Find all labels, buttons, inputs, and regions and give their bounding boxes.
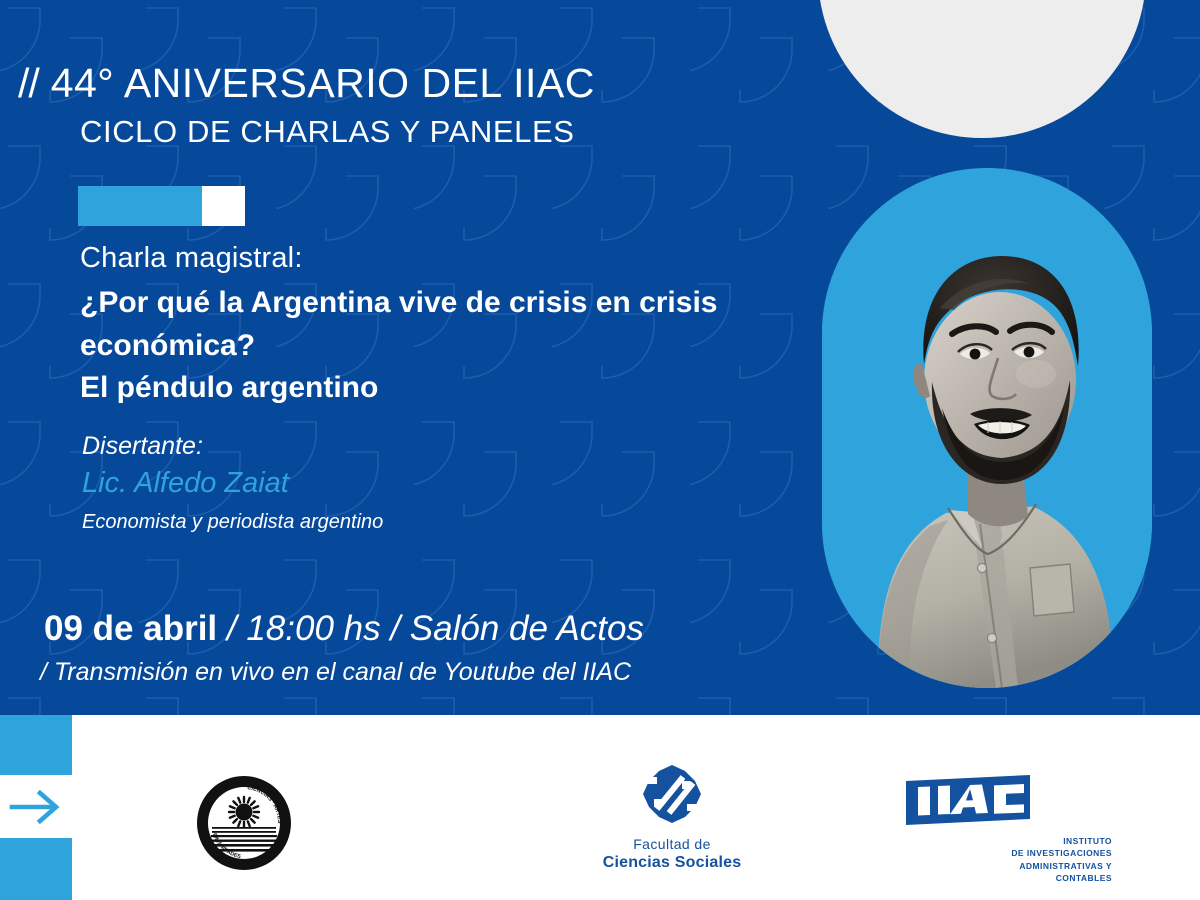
flag-bar-blue — [78, 186, 202, 226]
poster-main-panel: // 44° ANIVERSARIO DEL IIAC CICLO DE CHA… — [0, 0, 1200, 715]
event-separator-2: / — [381, 609, 410, 648]
anniversary-title: // 44° ANIVERSARIO DEL IIAC — [18, 62, 595, 105]
slash-marker: // — [18, 60, 39, 106]
footer-accent-block-bottom — [0, 838, 72, 900]
flag-bar-white — [202, 186, 245, 226]
iiac-sub-line-2: DE INVESTIGACIONES — [962, 847, 1112, 859]
anniversary-text: 44° ANIVERSARIO DEL IIAC — [51, 60, 595, 106]
event-details-block: 09 de abril / 18:00 hs / Salón de Actos … — [44, 608, 644, 687]
event-date: 09 de abril — [44, 609, 217, 648]
talk-title: ¿Por qué la Argentina vive de crisis en … — [80, 282, 760, 410]
flag-accent-bar — [78, 186, 245, 226]
arrow-right-icon — [0, 775, 72, 838]
talk-block: Charla magistral: ¿Por qué la Argentina … — [80, 240, 780, 410]
speaker-portrait — [822, 168, 1152, 688]
poster-footer: CIENCIAS · ARTES HUMANIDADES — [0, 715, 1200, 900]
sociales-line-2: Ciencias Sociales — [564, 854, 780, 872]
speaker-label: Disertante: — [82, 430, 383, 463]
speaker-block: Disertante: Lic. Alfedo Zaiat Economista… — [82, 430, 383, 535]
talk-title-line-3: El péndulo argentino — [80, 367, 760, 410]
iiac-wordmark-icon — [902, 775, 1034, 827]
event-separator-1: / — [217, 609, 246, 648]
poster-headline: // 44° ANIVERSARIO DEL IIAC CICLO DE CHA… — [18, 62, 595, 150]
speaker-role: Economista y periodista argentino — [82, 509, 383, 535]
event-datetime-line: 09 de abril / 18:00 hs / Salón de Actos — [44, 608, 644, 650]
sociales-line-1: Facultad de — [564, 836, 780, 852]
talk-kicker: Charla magistral: — [80, 240, 780, 276]
iiac-sub-line-3: ADMINISTRATIVAS Y CONTABLES — [962, 860, 1112, 885]
footer-logos: CIENCIAS · ARTES HUMANIDADES — [72, 715, 1200, 900]
footer-accent-column — [0, 715, 72, 900]
iiac-sub-line-1: INSTITUTO — [962, 835, 1112, 847]
talk-title-line-2: económica? — [80, 325, 760, 368]
footer-accent-block-top — [0, 715, 72, 775]
uba-seal-logo: CIENCIAS · ARTES HUMANIDADES — [194, 773, 294, 878]
talk-title-line-1: ¿Por qué la Argentina vive de crisis en … — [80, 282, 760, 325]
sociales-mark-icon — [641, 763, 703, 825]
event-venue: Salón de Actos — [410, 609, 644, 648]
facultad-ciencias-sociales-logo: Facultad de Ciencias Sociales — [564, 763, 780, 872]
iiac-logo: INSTITUTO DE INVESTIGACIONES ADMINISTRAT… — [902, 775, 1132, 884]
event-poster: // 44° ANIVERSARIO DEL IIAC CICLO DE CHA… — [0, 0, 1200, 900]
iiac-subtitle: INSTITUTO DE INVESTIGACIONES ADMINISTRAT… — [962, 835, 1112, 884]
headline-subtitle: CICLO DE CHARLAS Y PANELES — [80, 114, 595, 150]
event-time: 18:00 hs — [246, 609, 380, 648]
event-stream-line: / Transmisión en vivo en el canal de You… — [40, 658, 644, 687]
speaker-name: Lic. Alfedo Zaiat — [82, 465, 383, 503]
